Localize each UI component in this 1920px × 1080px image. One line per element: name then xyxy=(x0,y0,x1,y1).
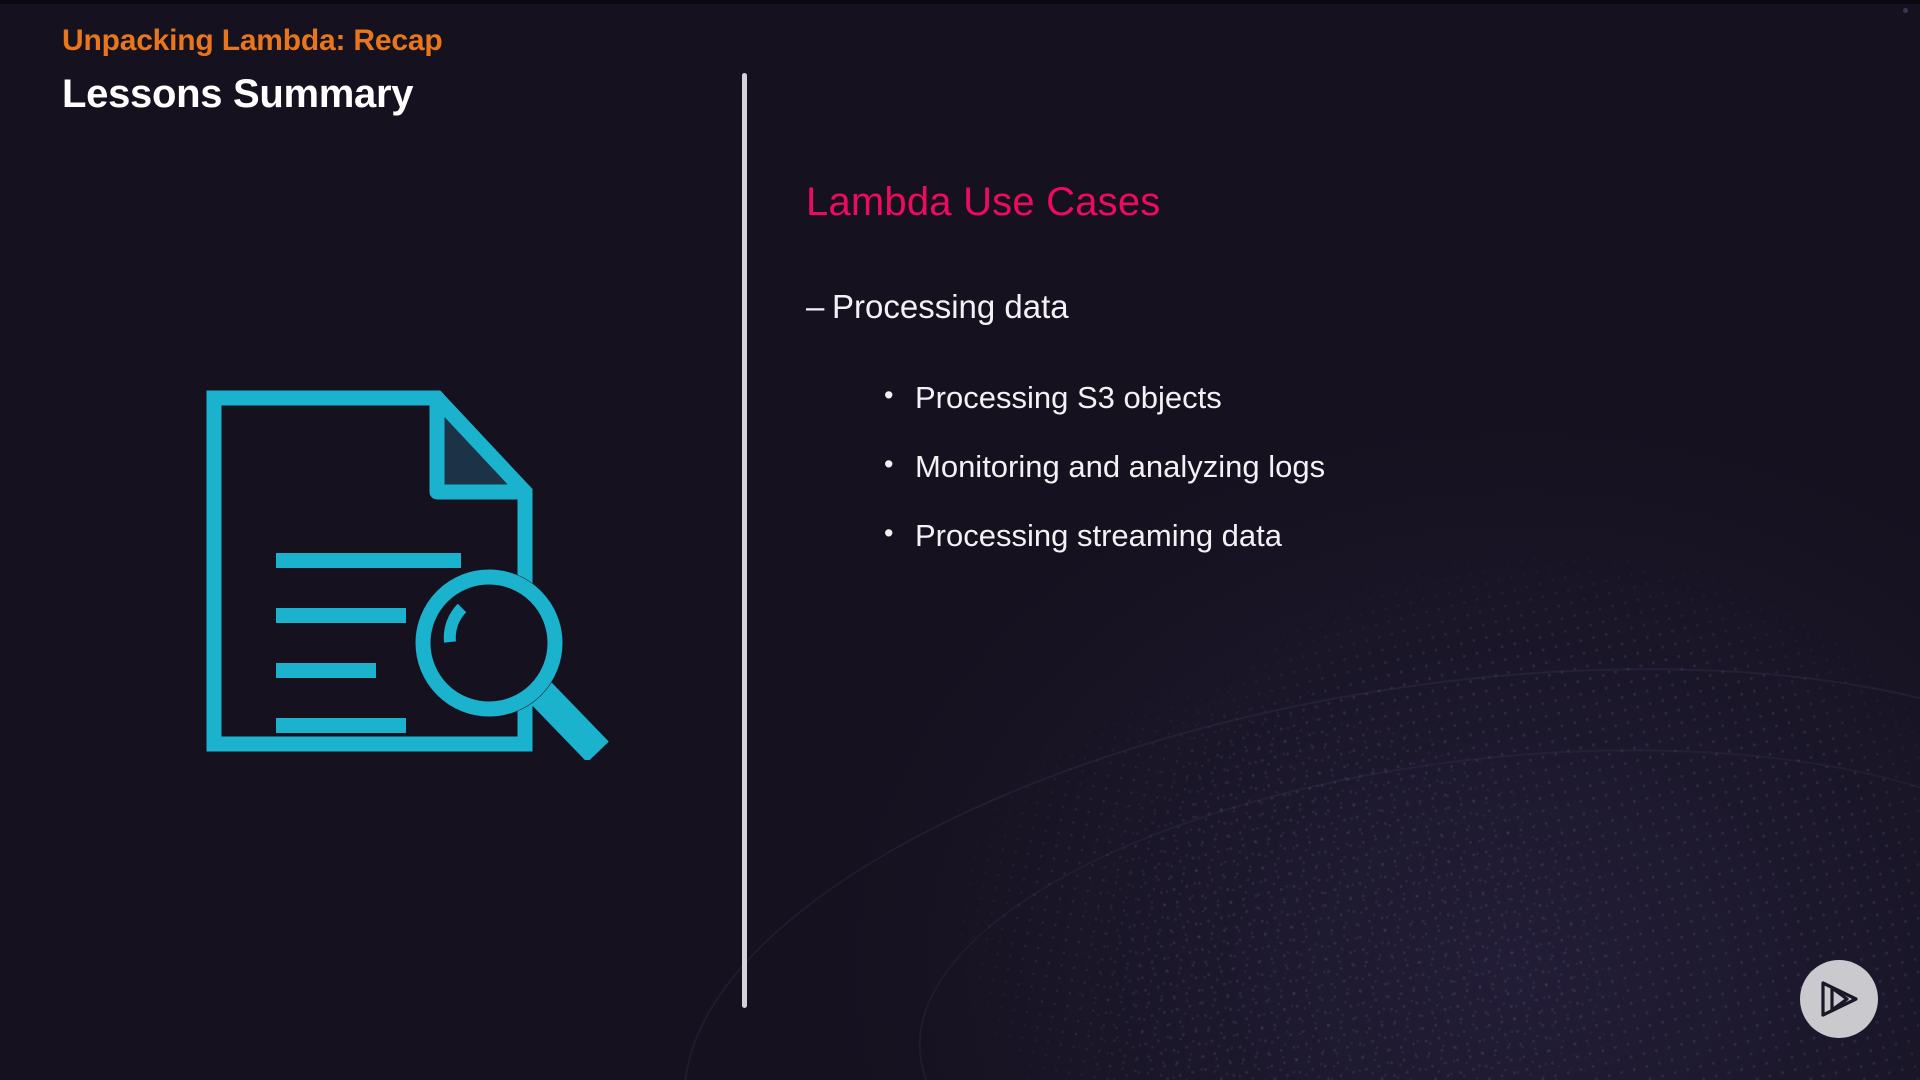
content-panel: Lambda Use Cases – Processing data • Pro… xyxy=(806,180,1826,586)
list-item-label: Processing data xyxy=(832,286,1069,327)
bullet-icon: • xyxy=(884,448,915,482)
list-item-top-level: – Processing data xyxy=(806,286,1826,327)
list-item: • Monitoring and analyzing logs xyxy=(884,448,1826,486)
play-chevron-logo[interactable] xyxy=(1800,960,1878,1038)
list-item-label: Monitoring and analyzing logs xyxy=(915,448,1325,486)
list-item-label: Processing streaming data xyxy=(915,517,1282,555)
bullet-icon: • xyxy=(884,379,915,413)
list-item-label: Processing S3 objects xyxy=(915,379,1222,417)
slide-root: Unpacking Lambda: Recap Lessons Summary xyxy=(0,0,1920,1080)
corner-dot-icon xyxy=(1903,8,1908,13)
list-item: • Processing streaming data xyxy=(884,517,1826,555)
top-edge-bar xyxy=(0,0,1920,4)
list-item: • Processing S3 objects xyxy=(884,379,1826,417)
dash-marker: – xyxy=(806,286,832,327)
sub-bullet-list: • Processing S3 objects • Monitoring and… xyxy=(806,379,1826,554)
bullet-icon: • xyxy=(884,517,915,551)
vertical-divider xyxy=(742,73,747,1008)
document-with-magnifier-icon xyxy=(200,380,620,760)
content-heading: Lambda Use Cases xyxy=(806,180,1826,224)
eyebrow-label: Unpacking Lambda: Recap xyxy=(62,24,442,58)
page-title: Lessons Summary xyxy=(62,72,413,117)
